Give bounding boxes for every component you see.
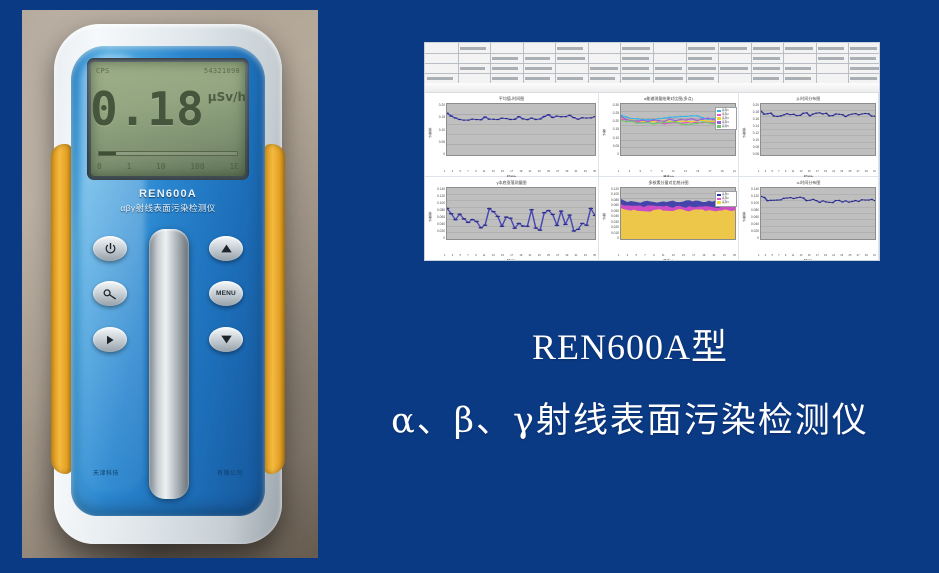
grid-cell [525,57,551,60]
menu-button-label: MENU [216,290,236,297]
chart-y-ticks: 0.300.250.200.150.100.050 [607,103,620,163]
grid-cell [753,67,780,70]
x-tick: 13 [492,254,495,257]
y-tick: 0.05 [613,144,619,148]
search-button[interactable] [93,281,127,306]
grid-cell [492,67,518,70]
x-tick: 27 [556,170,559,173]
x-tick: 1 [618,254,619,257]
y-tick: 0.020 [611,225,619,229]
x-tick: 3 [452,254,453,257]
chart-title: γ本底涨落测量图 [427,180,596,186]
chart-x-axis-label: 时间/h [425,258,598,261]
chart-y-ticks: 0.1400.1200.1000.0800.0600.0400.0200 [747,187,760,247]
x-tick: 1 [444,254,445,257]
chart-y-ticks: 0.200.150.100.050 [433,103,446,163]
x-tick: 7 [467,170,468,173]
x-tick: 23 [538,170,541,173]
x-tick: 15 [501,254,504,257]
grid-cell [688,57,713,60]
title-block: REN600A型 α、β、γ射线表面污染检测仪 [330,318,930,443]
chart-panel[interactable]: γ本底涨落测量图计数率0.1400.1200.1000.0800.0600.04… [425,177,599,261]
grid-cell [557,77,583,80]
legend-swatch [717,125,721,128]
y-tick: 0.08 [753,145,759,149]
grid-cell [688,47,716,50]
y-tick: 0.12 [753,131,759,135]
lcd-value: 0.18 [91,86,205,132]
grid-col-line [458,43,459,83]
lcd-scale-tick: 100 [190,162,204,171]
y-tick: 0.18 [753,110,759,114]
x-tick: 17 [816,170,819,173]
device-footer-right: 有限公司 [217,468,243,477]
grid-cell [557,47,582,50]
y-tick: 0.25 [613,111,619,115]
x-tick: 17 [510,170,513,173]
grid-cell [720,67,747,70]
grid-col-line [816,43,817,83]
grid-cell [460,67,486,70]
lcd-unit: µSv/h [208,90,245,104]
x-tick: 23 [840,254,843,257]
x-tick: 17 [816,254,819,257]
chart-plot-area: 计数率0.1400.1200.1000.0800.0600.0400.0200 [741,187,876,247]
y-tick: 0.100 [437,201,445,205]
x-tick: 7 [644,254,645,257]
grid-cell [753,77,780,80]
device-footer-left: 天津科技 [93,468,119,477]
x-tick: 5 [460,170,461,173]
x-tick: 19 [519,254,522,257]
x-tick: 15 [501,170,504,173]
chart-canvas [760,103,876,156]
grid-cell [850,57,876,60]
x-tick: 19 [824,170,827,173]
y-tick: 0.050 [611,209,619,213]
x-tick: 21 [529,254,532,257]
y-tick: 0.10 [753,138,759,142]
x-tick: 9 [475,170,476,173]
grid-col-line [588,43,589,83]
x-tick: 11 [672,170,675,173]
legend-label: 系列3 [722,201,729,205]
grid-cell [557,57,585,60]
lcd-screen: CPS 54321098 0.18 µSv/h 0 1 10 100 1E [91,62,245,176]
grid-cell [655,67,682,70]
device-footer: 天津科技 有限公司 [71,468,265,477]
x-tick: 17 [692,254,695,257]
grid-cell [590,77,615,80]
x-tick: 21 [832,254,835,257]
up-button[interactable] [209,236,243,261]
y-tick: 0.30 [613,103,619,107]
x-tick: 15 [682,254,685,257]
x-tick: 13 [492,170,495,173]
legend-swatch [717,121,721,124]
legend-swatch [717,114,721,117]
grid-row-line [425,53,879,54]
x-tick: 11 [792,170,795,173]
x-tick: 33 [584,170,587,173]
lcd-status-right: 54321098 [204,67,240,75]
x-tick: 21 [713,254,716,257]
x-tick: 31 [575,170,578,173]
chart-panel[interactable]: β-时间分布图计数率0.200.180.160.140.120.100.080.… [739,93,879,177]
chart-legend: 系列1系列2系列3 [715,191,737,207]
grid-cell [622,47,650,50]
x-tick: 31 [873,170,876,173]
grid-cell [850,77,876,80]
chart-plot-area: 计数率0.200.150.100.050 [427,103,596,163]
play-button[interactable] [93,327,127,352]
y-tick: 0.15 [439,115,445,119]
lcd-status-left: CPS [96,67,110,75]
device-grip-left [51,144,72,474]
y-tick: 0.080 [437,208,445,212]
y-tick: 0 [443,236,445,240]
x-tick: 35 [593,254,596,257]
legend-entry: 系列3 [717,201,735,205]
lcd-reading: 0.18 µSv/h [95,78,241,140]
x-tick: 5 [636,254,637,257]
x-tick: 23 [538,254,541,257]
chart-panel[interactable]: α-时间分布图计数率0.1400.1200.1000.0800.0600.040… [739,177,879,261]
y-tick: 0.020 [437,229,445,233]
grid-cell [525,77,550,80]
chart-title: 多核素分量对比统计图 [601,180,736,186]
y-tick: 0.06 [753,152,759,156]
grid-cell [525,67,552,70]
x-tick: 1 [758,170,759,173]
key-icon [103,288,117,300]
legend-swatch [717,110,721,113]
grid-cell [785,47,813,50]
chart-canvas [760,187,876,240]
x-tick: 11 [483,170,486,173]
device-model-text: REN600A [71,188,265,200]
chart-x-axis-label: 时间/h [739,258,878,261]
chart-y-axis-label: 计数 [601,187,607,247]
x-tick: 3 [765,254,766,257]
x-tick: 9 [661,170,662,173]
y-tick: 0.060 [437,215,445,219]
x-tick: 15 [696,170,699,173]
x-tick: 5 [460,254,461,257]
menu-button[interactable]: MENU [209,281,243,306]
lcd-bezel: CPS 54321098 0.18 µSv/h 0 1 10 100 1E [87,58,249,180]
x-tick: 19 [721,170,724,173]
chart-y-axis-label: 计数 [601,103,607,163]
x-tick: 19 [824,254,827,257]
grid-cell [818,57,845,60]
x-tick: 1 [758,254,759,257]
x-tick: 9 [475,254,476,257]
x-tick: 11 [662,254,665,257]
y-tick: 0.140 [437,187,445,191]
y-tick: 0.20 [613,119,619,123]
grid-cell [720,47,747,50]
legend-swatch [717,117,721,120]
y-tick: 0.14 [753,124,759,128]
chart-y-ticks: 0.1200.1000.0800.0600.0500.0400.0300.020… [607,187,620,247]
lcd-scale-tick: 0 [97,162,102,171]
x-tick: 31 [873,254,876,257]
grid-cell [688,77,714,80]
x-tick: 19 [702,254,705,257]
x-tick: 15 [808,170,811,173]
x-tick: 3 [629,170,630,173]
detector-device: CPS 54321098 0.18 µSv/h 0 1 10 100 1E [54,24,282,544]
y-tick: 0.20 [753,103,759,107]
grid-col-line [751,43,752,83]
grid-col-line [848,43,849,83]
x-tick: 29 [565,254,568,257]
grid-cell [492,57,518,60]
grid-col-line [686,43,687,83]
lcd-bargraph [98,151,238,156]
x-tick: 29 [565,170,568,173]
chart-panel[interactable]: 平均值-时间图计数率0.200.150.100.0501357911131517… [425,93,599,177]
product-title: α、β、γ射线表面污染检测仪 [330,392,930,443]
y-tick: 0.020 [751,229,759,233]
y-tick: 0.10 [613,136,619,140]
grid-cell [688,67,716,70]
x-tick: 9 [785,254,786,257]
x-tick: 17 [510,254,513,257]
x-tick: 15 [808,254,811,257]
x-tick: 29 [865,254,868,257]
grid-row-line [425,73,879,74]
chart-y-axis-label: 计数率 [741,103,747,163]
grid-col-line [620,43,621,83]
x-tick: 27 [556,254,559,257]
grid-cell [818,47,845,50]
x-tick: 25 [547,170,550,173]
chart-title: α能谱测量结果对比图(多点) [601,96,736,102]
x-tick: 7 [778,254,779,257]
y-tick: 0.15 [613,127,619,131]
chart-y-ticks: 0.1400.1200.1000.0800.0600.0400.0200 [433,187,446,247]
x-tick: 25 [733,254,736,257]
power-button[interactable] [93,236,127,261]
chart-y-axis-label: 计数率 [741,187,747,247]
y-tick: 0.080 [751,208,759,212]
y-tick: 0 [617,152,619,156]
y-tick: 0.20 [439,103,445,107]
y-tick: 0.120 [751,194,759,198]
x-tick: 27 [857,254,860,257]
grid-cell [753,57,781,60]
chart-title: 平均值-时间图 [427,96,596,102]
x-tick: 31 [575,254,578,257]
chart-legend: 系列1系列2系列3系列4系列5 [715,107,737,130]
lcd-bargraph-fill [99,152,116,155]
x-tick: 3 [765,170,766,173]
device-grip-right [264,144,285,474]
y-tick: 0.100 [611,192,619,196]
grid-col-line [555,43,556,83]
grid-col-line [523,43,524,83]
legend-label: 系列5 [722,125,729,129]
grid-cell [622,67,649,70]
device-subtitle-text: αβγ射线表面污染检测仪 [71,202,265,214]
grid-cell [850,67,878,70]
device-front-face: CPS 54321098 0.18 µSv/h 0 1 10 100 1E [71,46,265,516]
grid-cell [753,47,781,50]
data-grid-header [425,43,879,83]
device-brand-plate: REN600A αβγ射线表面污染检测仪 [71,188,265,214]
grid-cell [590,67,618,70]
y-tick: 0.080 [611,198,619,202]
product-photo: CPS 54321098 0.18 µSv/h 0 1 10 100 1E [22,10,318,558]
chart-panel[interactable]: α能谱测量结果对比图(多点)计数0.300.250.200.150.100.05… [599,93,739,177]
x-tick: 25 [849,170,852,173]
x-tick: 23 [840,170,843,173]
chart-canvas [446,187,596,240]
grid-cell [785,67,811,70]
grid-cell [850,47,877,50]
y-tick: 0.030 [611,220,619,224]
y-tick: 0.05 [439,140,445,144]
triangle-down-icon [220,334,233,345]
x-tick: 9 [785,170,786,173]
y-tick: 0.060 [611,203,619,207]
x-tick: 33 [584,254,587,257]
y-tick: 0.16 [753,117,759,121]
y-tick: 0.010 [611,231,619,235]
lcd-scale-tick: 1E [229,162,239,171]
grid-row-line [425,63,879,64]
x-tick: 5 [771,254,772,257]
x-tick: 9 [653,254,654,257]
grid-cell [785,77,811,80]
y-tick: 0.040 [751,222,759,226]
grid-cell [492,77,517,80]
x-tick: 19 [519,170,522,173]
x-tick: 7 [778,170,779,173]
grid-cell [655,77,683,80]
software-toolbar [425,83,879,93]
x-tick: 3 [452,170,453,173]
chart-plot-area: 计数率0.200.180.160.140.120.100.080.06 [741,103,876,163]
x-tick: 21 [733,170,736,173]
x-tick: 29 [865,170,868,173]
lcd-scale-tick: 1 [126,162,131,171]
charts-grid: 平均值-时间图计数率0.200.150.100.0501357911131517… [425,93,879,261]
x-tick: 13 [684,170,687,173]
lcd-scale: 0 1 10 100 1E [97,160,239,172]
y-tick: 0.120 [611,187,619,191]
x-tick: 3 [627,254,628,257]
y-tick: 0 [757,236,759,240]
x-tick: 7 [467,254,468,257]
legend-swatch [717,198,721,201]
grid-cell [622,57,648,60]
x-tick: 13 [800,170,803,173]
x-tick: 23 [723,254,726,257]
grid-col-line [490,43,491,83]
model-title: REN600A型 [330,318,930,370]
grid-col-line [718,43,719,83]
x-tick: 21 [529,170,532,173]
x-tick: 27 [857,170,860,173]
chart-title: α-时间分布图 [741,180,876,186]
x-tick: 35 [593,170,596,173]
chart-y-ticks: 0.200.180.160.140.120.100.080.06 [747,103,760,163]
y-tick: 0.120 [437,194,445,198]
y-tick: 0 [443,152,445,156]
play-icon [104,334,116,346]
grid-col-line [653,43,654,83]
x-tick: 25 [849,254,852,257]
y-tick: 0.140 [751,187,759,191]
x-tick: 13 [800,254,803,257]
legend-entry: 系列5 [717,125,735,129]
chart-x-axis-label: 通道/ch [599,258,738,261]
chart-canvas [446,103,596,156]
x-tick: 25 [547,254,550,257]
lcd-status-row: CPS 54321098 [96,65,240,76]
chart-title: β-时间分布图 [741,96,876,102]
x-tick: 13 [672,254,675,257]
device-center-strip [149,229,189,499]
y-tick: 0.040 [611,214,619,218]
legend-swatch [717,201,721,204]
y-tick: 0 [617,236,619,240]
grid-cell [427,77,453,80]
grid-col-line [783,43,784,83]
y-tick: 0.10 [439,128,445,132]
software-screenshot: 平均值-时间图计数率0.200.150.100.0501357911131517… [424,42,880,261]
legend-swatch [717,194,721,197]
y-tick: 0.040 [437,222,445,226]
x-tick: 11 [792,254,795,257]
chart-plot-area: 计数率0.1400.1200.1000.0800.0600.0400.0200 [427,187,596,247]
x-tick: 1 [444,170,445,173]
x-tick: 5 [771,170,772,173]
x-tick: 5 [640,170,641,173]
grid-cell [460,47,486,50]
x-tick: 11 [483,254,486,257]
x-tick: 21 [832,170,835,173]
down-button[interactable] [209,327,243,352]
chart-panel[interactable]: 多核素分量对比统计图计数0.1200.1000.0800.0600.0500.0… [599,177,739,261]
y-tick: 0.060 [751,215,759,219]
lcd-scale-tick: 10 [156,162,166,171]
chart-y-axis-label: 计数率 [427,187,433,247]
triangle-up-icon [220,243,233,254]
y-tick: 0.100 [751,201,759,205]
x-tick: 1 [618,170,619,173]
x-tick: 7 [650,170,651,173]
x-tick: 17 [709,170,712,173]
power-icon [104,242,117,255]
grid-cell [622,77,649,80]
chart-y-axis-label: 计数率 [427,103,433,163]
